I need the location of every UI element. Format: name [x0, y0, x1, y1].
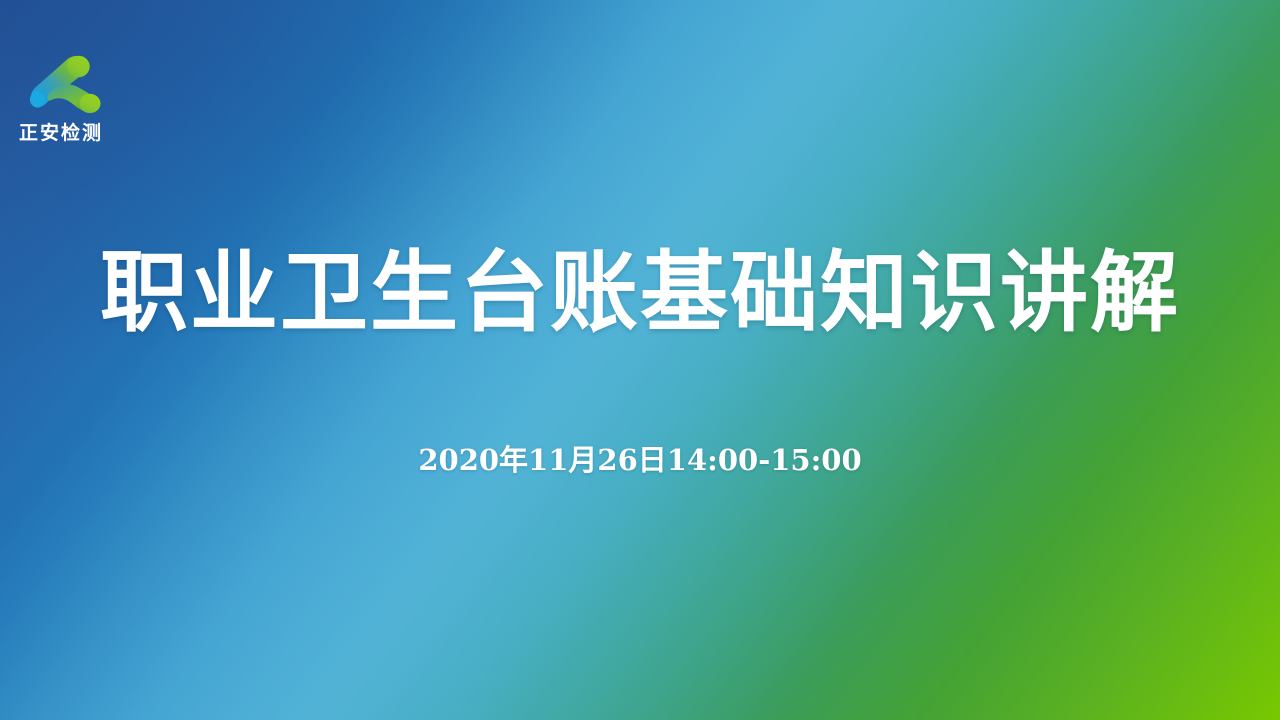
presentation-title-slide: 正安检测 职业卫生台账基础知识讲解 2020年11月26日14:00-15:00	[0, 0, 1280, 720]
page-title: 职业卫生台账基础知识讲解	[100, 248, 1180, 336]
slide-datetime-subtitle: 2020年11月26日14:00-15:00	[418, 437, 861, 479]
title-block: 职业卫生台账基础知识讲解 2020年11月26日14:00-15:00	[0, 0, 1280, 720]
